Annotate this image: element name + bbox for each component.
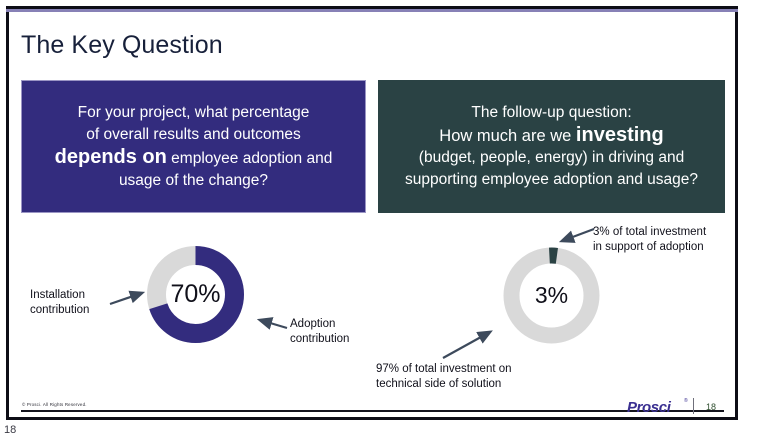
label-installation-line-1: Installation bbox=[30, 288, 126, 303]
arrow-adoption-icon bbox=[256, 315, 294, 335]
question-right-emphasis: investing bbox=[576, 124, 664, 146]
slide-screenshot: The Key Question For your project, what … bbox=[0, 0, 761, 439]
label-three-percent-line-2: in support of adoption bbox=[593, 240, 743, 255]
donut-chart-investment: 3% bbox=[503, 247, 600, 344]
question-right-line-3: (budget, people, energy) in driving and bbox=[411, 147, 692, 169]
arrow-ninetyseven-percent-icon bbox=[440, 326, 500, 362]
question-left-line-1: For your project, what percentage bbox=[68, 102, 320, 124]
label-adoption-line-2: contribution bbox=[290, 332, 382, 347]
question-right-line-4: supporting employee adoption and usage? bbox=[397, 169, 706, 191]
question-right-line-2: How much are we investing bbox=[431, 124, 671, 147]
footer-vertical-divider bbox=[693, 398, 694, 414]
slide-top-accent-bar bbox=[6, 9, 738, 12]
question-left-line-4: usage of the change? bbox=[109, 170, 278, 192]
arrow-three-percent-icon bbox=[558, 226, 598, 250]
question-left-emphasis: depends on bbox=[55, 146, 167, 168]
question-box-followup: The follow-up question: How much are we … bbox=[378, 80, 725, 213]
label-installation-contribution: Installation contribution bbox=[30, 288, 126, 318]
copyright-notice: © Prosci. All Rights Reserved. bbox=[22, 402, 87, 407]
label-adoption-line-1: Adoption bbox=[290, 317, 382, 332]
question-box-primary: For your project, what percentage of ove… bbox=[21, 80, 366, 213]
label-three-percent-investment: 3% of total investment in support of ado… bbox=[593, 225, 743, 255]
slide-canvas bbox=[6, 6, 738, 420]
page-number: 18 bbox=[706, 402, 716, 412]
page-title: The Key Question bbox=[21, 28, 223, 62]
label-installation-line-2: contribution bbox=[30, 303, 126, 318]
question-right-line-2-pre: How much are we bbox=[439, 127, 576, 145]
label-three-percent-line-1: 3% of total investment bbox=[593, 225, 743, 240]
question-right-line-1: The follow-up question: bbox=[463, 102, 639, 124]
donut-left-center-value: 70% bbox=[147, 246, 244, 343]
footer-divider-rule bbox=[21, 410, 724, 412]
label-ninetyseven-line-2: technical side of solution bbox=[376, 377, 556, 392]
donut-right-center-value: 3% bbox=[503, 247, 600, 344]
question-left-line-3-rest: employee adoption and bbox=[167, 150, 332, 167]
question-left-line-2: of overall results and outcomes bbox=[76, 124, 311, 146]
prosci-logo: Prosci bbox=[627, 399, 670, 416]
trademark-icon: ® bbox=[684, 398, 688, 404]
donut-chart-adoption: 70% bbox=[147, 246, 244, 343]
label-adoption-contribution: Adoption contribution bbox=[290, 317, 382, 347]
question-left-line-3: depends on employee adoption and bbox=[45, 146, 343, 170]
thumbnail-slide-number: 18 bbox=[4, 424, 16, 436]
label-ninetyseven-line-1: 97% of total investment on bbox=[376, 362, 556, 377]
label-ninetyseven-percent-investment: 97% of total investment on technical sid… bbox=[376, 362, 556, 392]
